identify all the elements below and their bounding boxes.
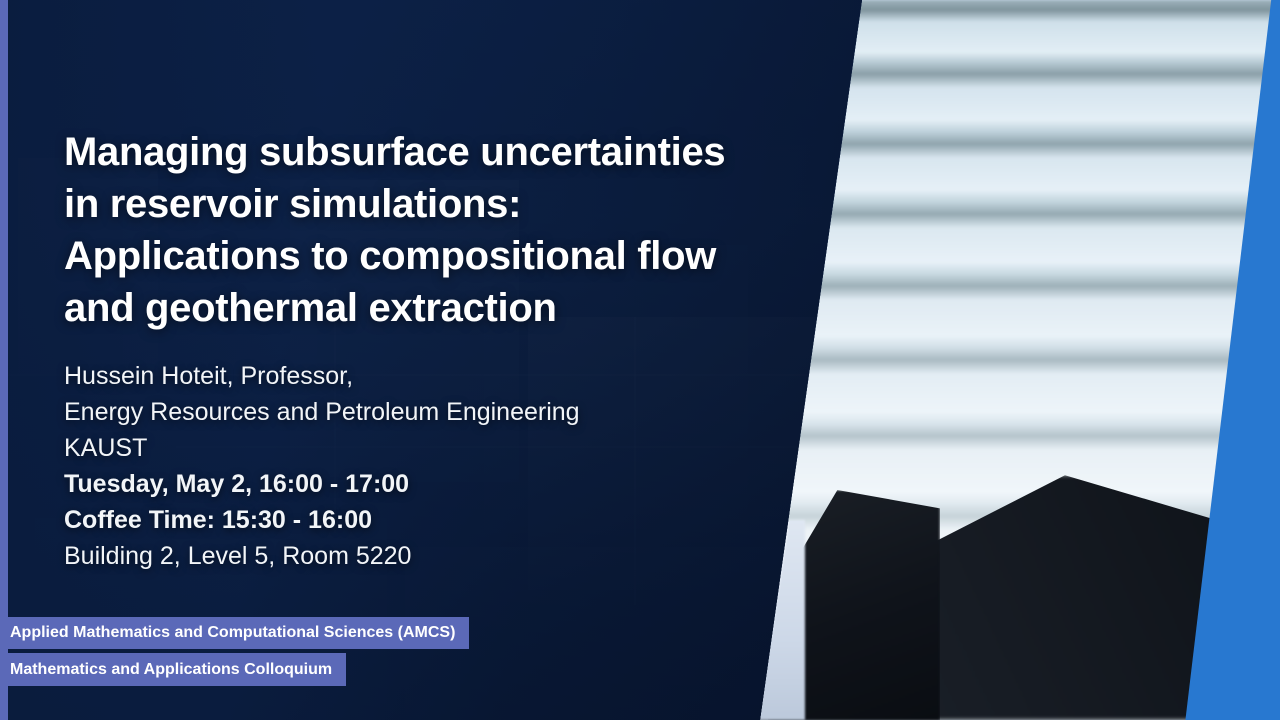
title-line-3: Applications to compositional flow: [64, 230, 854, 282]
department-banner: Applied Mathematics and Computational Sc…: [0, 617, 469, 649]
coffee-time: Coffee Time: 15:30 - 16:00: [64, 502, 824, 538]
left-accent-strip: [0, 0, 8, 720]
title-line-2: in reservoir simulations:: [64, 178, 854, 230]
title-line-1: Managing subsurface uncertainties: [64, 126, 854, 178]
event-details: Hussein Hoteit, Professor, Energy Resour…: [64, 358, 824, 574]
title-line-4: and geothermal extraction: [64, 282, 854, 334]
page-title: Managing subsurface uncertainties in res…: [64, 126, 854, 334]
event-location: Building 2, Level 5, Room 5220: [64, 538, 824, 574]
speaker-name: Hussein Hoteit, Professor,: [64, 358, 824, 394]
event-datetime: Tuesday, May 2, 16:00 - 17:00: [64, 466, 824, 502]
seminar-announcement-poster: Managing subsurface uncertainties in res…: [0, 0, 1280, 720]
series-banner: Mathematics and Applications Colloquium: [0, 653, 346, 686]
speaker-affiliation: KAUST: [64, 430, 824, 466]
speaker-department: Energy Resources and Petroleum Engineeri…: [64, 394, 824, 430]
